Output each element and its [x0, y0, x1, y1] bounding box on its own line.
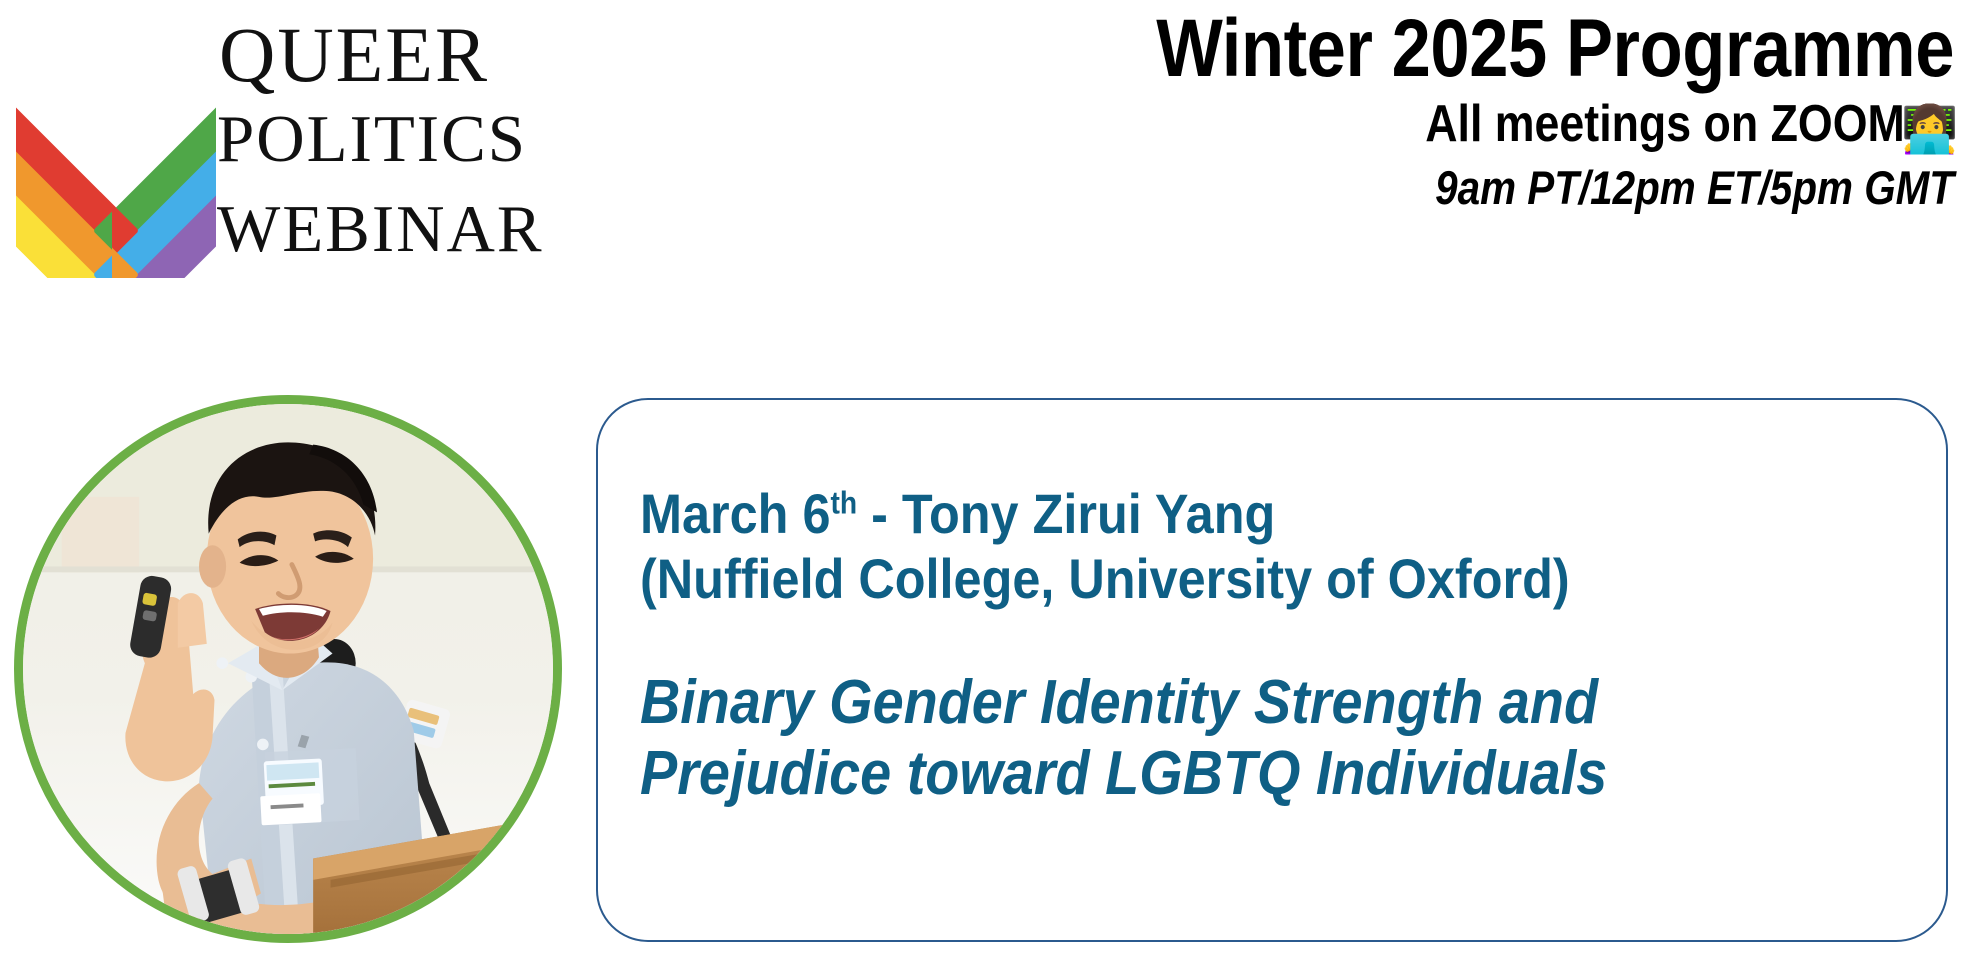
wordmark-line-queer: QUEER	[219, 16, 489, 94]
speaker-info-card: March 6th - Tony Zirui Yang (Nuffield Co…	[596, 398, 1948, 942]
name-separator: -	[857, 482, 902, 545]
header-banner: QUEER POLITICS WEBINAR Winter 2025 Progr…	[0, 0, 1966, 290]
speaker-portrait-illustration	[23, 404, 553, 934]
speaker-affiliation: (Nuffield College, University of Oxford)	[640, 547, 1792, 612]
talk-title-line-1: Binary Gender Identity Strength and	[640, 668, 1792, 739]
content-spacer	[640, 612, 1920, 668]
speaker-info-content: March 6th - Tony Zirui Yang (Nuffield Co…	[640, 482, 1920, 809]
meeting-time: 9am PT/12pm ET/5pm GMT	[767, 162, 1954, 214]
zoom-notice-label: All meetings on ZOOM	[1425, 95, 1905, 153]
header-text-block: Winter 2025 Programme All meetings on ZO…	[574, 6, 1954, 213]
rainbow-x-logo-icon	[16, 20, 216, 278]
zoom-notice: All meetings on ZOOM👩‍💻	[767, 95, 1954, 156]
speaker-photo	[14, 395, 562, 943]
queer-politics-webinar-logo: QUEER POLITICS WEBINAR	[8, 8, 568, 278]
woman-technologist-emoji: 👩‍💻	[1901, 104, 1958, 156]
event-date-ordinal-suffix: th	[830, 485, 857, 520]
wordmark-line-politics: POLITICS	[217, 106, 527, 173]
programme-title: Winter 2025 Programme	[767, 6, 1954, 91]
logo-wordmark: QUEER POLITICS WEBINAR	[213, 14, 565, 278]
wordmark-line-webinar: WEBINAR	[217, 196, 544, 263]
speaker-date-and-name: March 6th - Tony Zirui Yang	[640, 482, 1792, 547]
talk-title-line-2: Prejudice toward LGBTQ Individuals	[640, 739, 1792, 810]
event-date: March 6	[640, 482, 830, 545]
speaker-name: Tony Zirui Yang	[902, 482, 1275, 545]
